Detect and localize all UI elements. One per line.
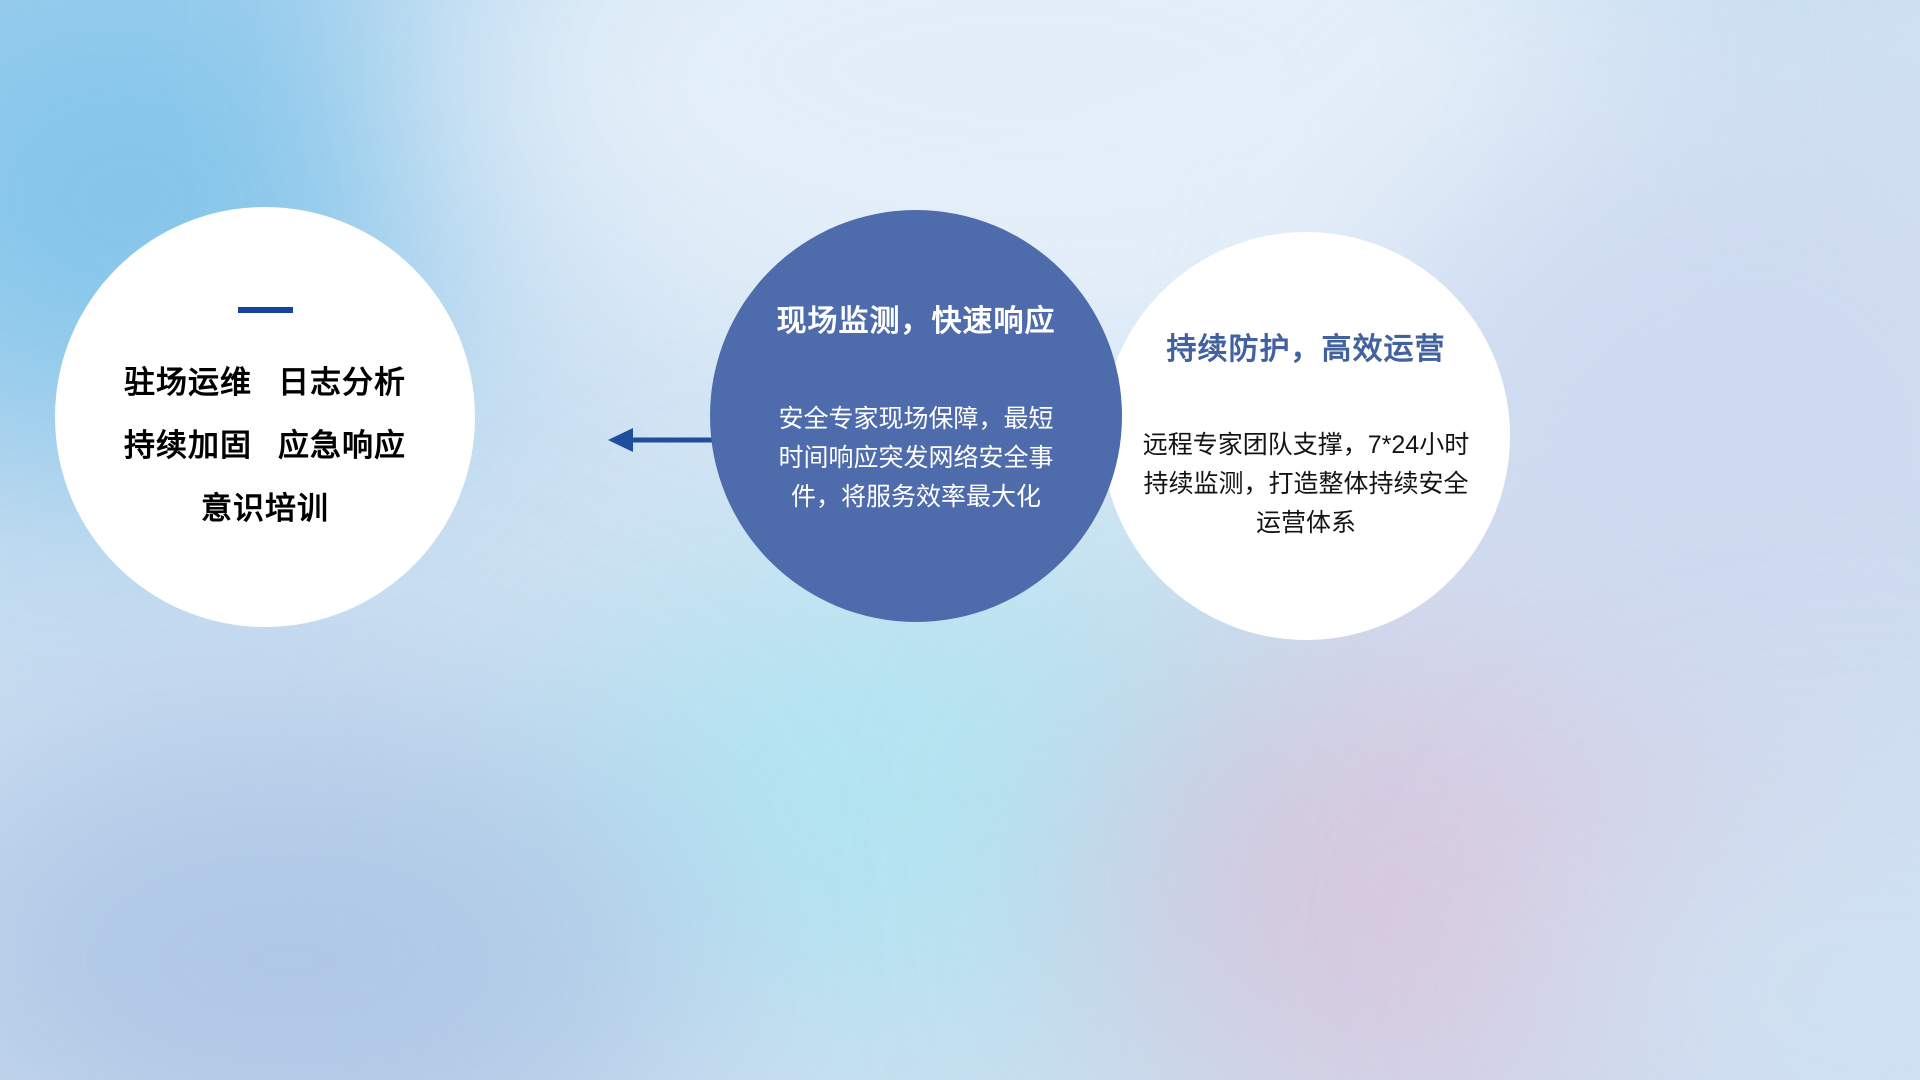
divider-dash xyxy=(238,307,293,313)
right-circle-body: 远程专家团队支撑，7*24小时持续监测，打造整体持续安全运营体系 xyxy=(1136,426,1476,542)
capability-row-2: 持续加固应急响应 xyxy=(124,420,406,465)
center-circle-body: 安全专家现场保障，最短时间响应突发网络安全事件，将服务效率最大化 xyxy=(769,400,1064,516)
right-circle-title: 持续防护，高效运营 xyxy=(1096,324,1516,368)
capability-keyword-chixu-jiagu: 持续加固 xyxy=(124,428,252,463)
right-service-circle[interactable]: 持续防护，高效运营 远程专家团队支撑，7*24小时持续监测，打造整体持续安全运营… xyxy=(1102,232,1510,640)
slide-canvas: 驻场运维日志分析 持续加固应急响应 意识培训 持续防护，高效运营 远程专家团队支… xyxy=(0,0,1920,1080)
center-service-circle[interactable]: 现场监测，快速响应 安全专家现场保障，最短时间响应突发网络安全事件，将服务效率最… xyxy=(710,210,1122,622)
capability-keyword-zhuchang-yunwei: 驻场运维 xyxy=(124,365,252,400)
capability-keyword-yingji-xiangying: 应急响应 xyxy=(278,428,406,463)
capability-row-1: 驻场运维日志分析 xyxy=(124,357,406,402)
capability-keyword-list: 驻场运维日志分析 持续加固应急响应 意识培训 xyxy=(124,357,406,528)
center-circle-title: 现场监测，快速响应 xyxy=(701,296,1131,340)
left-capability-circle[interactable]: 驻场运维日志分析 持续加固应急响应 意识培训 xyxy=(55,207,475,627)
capability-row-3: 意识培训 xyxy=(201,483,329,528)
capability-keyword-rizhi-fenxi: 日志分析 xyxy=(278,365,406,400)
